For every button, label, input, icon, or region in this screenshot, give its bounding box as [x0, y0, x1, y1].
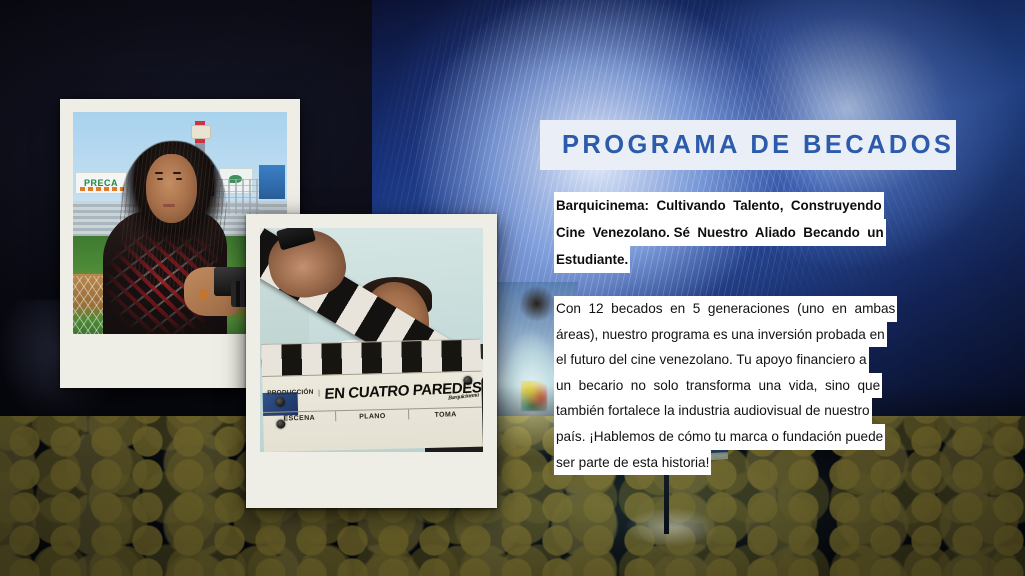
body-line: el futuro del cine venezolano. Tu apoyo …: [554, 347, 869, 373]
photographer-bracelet: [199, 290, 207, 300]
clapperboard-slate: PRODUCCIÓN EN CUATRO PAREDES Barquicinem…: [262, 339, 483, 452]
body-paragraph-block: Con 12 becados en 5 generaciones (uno en…: [554, 296, 982, 475]
body-line: ser parte de esta historia!: [554, 450, 711, 476]
photographer-brow-left: [155, 172, 163, 174]
clapperboard-production-title: EN CUATRO PAREDES Barquicinema: [319, 380, 482, 404]
photographer-brow-right: [173, 172, 181, 174]
billboard-preca: PRECA: [75, 172, 127, 194]
photographer-eye-right: [176, 178, 182, 180]
subtitle-line: Estudiante.: [554, 246, 630, 273]
clapperboard-column-escena: ESCENA: [264, 412, 337, 424]
clapperboard-signature: Barquicinema: [448, 393, 479, 402]
photographer-eye-left: [157, 178, 163, 180]
clapperboard-produccion-label: PRODUCCIÓN: [263, 390, 320, 398]
body-line: un becario no solo transforma una vida, …: [554, 373, 882, 399]
body-line: también fortalece la industria audiovisu…: [554, 398, 872, 424]
body-line: Con 12 becados en 5 generaciones (uno en…: [554, 296, 897, 322]
light-glow: [606, 500, 736, 554]
slide-canvas: PRECA: [0, 0, 1025, 576]
page-title: PROGRAMA DE BECADOS: [540, 131, 954, 160]
clapperboard-columns-row: ESCENA PLANO TOMA: [264, 408, 483, 452]
polaroid-clapperboard: PRODUCCIÓN EN CUATRO PAREDES Barquicinem…: [246, 214, 497, 508]
photographer-mouth: [163, 204, 175, 207]
title-band: PROGRAMA DE BECADOS: [540, 120, 956, 170]
clapperboard-production-row: PRODUCCIÓN EN CUATRO PAREDES Barquicinem…: [263, 372, 482, 414]
billboard-preca-stripe: [80, 187, 124, 191]
clapperboard-column-toma: TOMA: [410, 408, 482, 420]
photographer-face: [146, 154, 197, 223]
subtitle-line: Cine Venezolano. Sé Nuestro Aliado Becan…: [554, 219, 886, 246]
body-line: país. ¡Hablemos de cómo tu marca o funda…: [554, 424, 885, 450]
clapperboard-column-plano: PLANO: [337, 410, 410, 422]
billboard-tertiary: [259, 165, 285, 198]
body-line: áreas), nuestro programa es una inversió…: [554, 322, 887, 348]
subtitle-line: Barquicinema: Cultivando Talento, Constr…: [554, 192, 884, 219]
photo-clapperboard-set: PRODUCCIÓN EN CUATRO PAREDES Barquicinem…: [260, 228, 483, 452]
subtitle-block: Barquicinema: Cultivando Talento, Constr…: [554, 192, 978, 273]
